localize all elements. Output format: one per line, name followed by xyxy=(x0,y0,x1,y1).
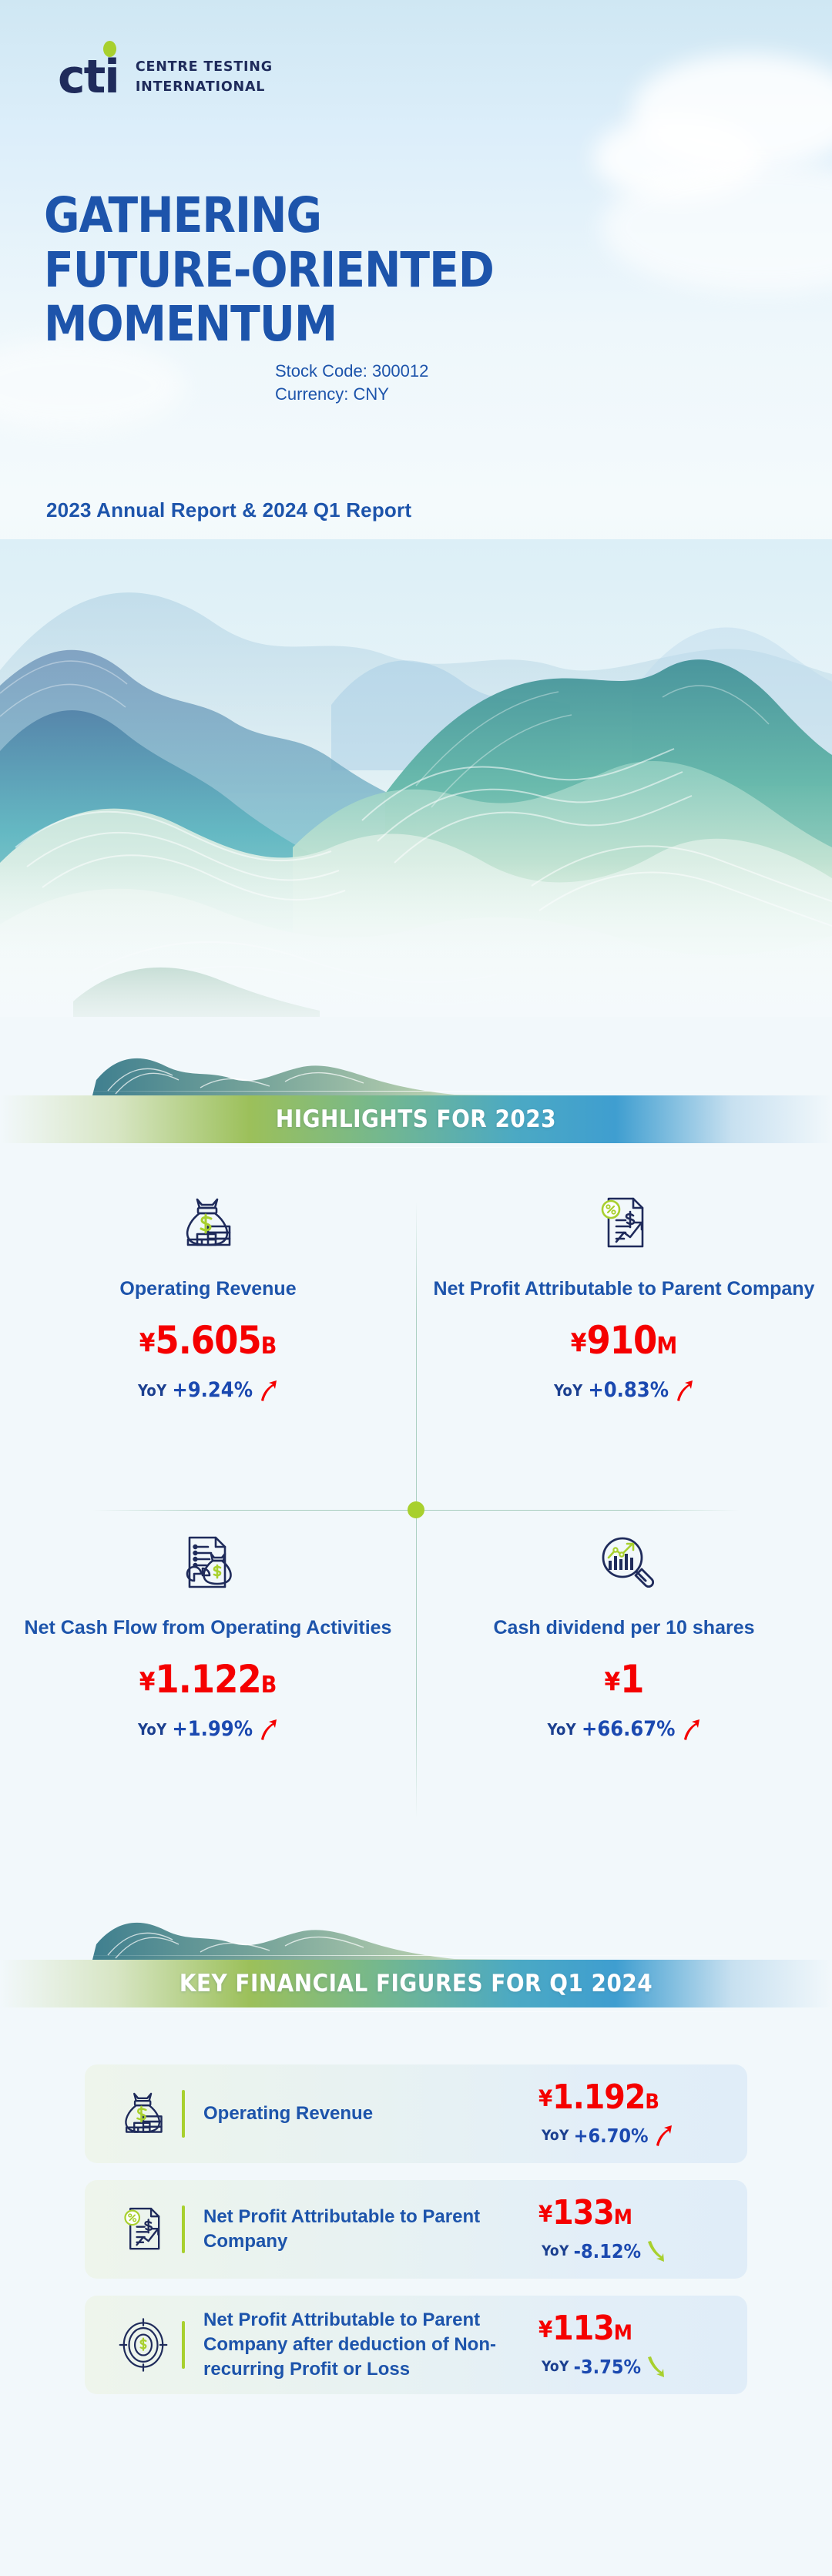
card-value: ¥1.192B xyxy=(538,2081,727,2115)
yoy-label: YoY xyxy=(542,2358,569,2375)
arrow-up-icon xyxy=(681,1718,701,1741)
value-number: 1 xyxy=(620,1657,643,1702)
metric-value: ¥1 xyxy=(431,1660,817,1699)
card-label: Net Profit Attributable to Parent Compan… xyxy=(203,2205,538,2253)
q1-card-net-profit-parent: Net Profit Attributable to Parent Compan… xyxy=(85,2180,747,2279)
cashflow-document-bag-icon xyxy=(15,1525,401,1599)
metric-value: ¥5.605B xyxy=(15,1321,401,1360)
card-accent-separator xyxy=(182,2205,185,2253)
profit-document-chart-icon xyxy=(108,2201,179,2258)
card-figure-block: ¥113M YoY -3.75% xyxy=(538,2312,727,2378)
yoy-change: YoY +66.67% xyxy=(431,1717,817,1741)
value-number: 910 xyxy=(586,1318,656,1363)
currency-symbol: ¥ xyxy=(538,2085,552,2111)
metric-value: ¥1.122B xyxy=(15,1660,401,1699)
value-unit: B xyxy=(645,2090,659,2114)
yoy-value: -3.75% xyxy=(574,2356,641,2378)
banner-line-bottom xyxy=(54,2011,778,2012)
highlights-banner: HIGHLIGHTS FOR 2023 xyxy=(0,1048,832,1143)
value-unit: B xyxy=(261,1672,277,1699)
banner-hill-decoration xyxy=(0,1912,832,1960)
logo-company-name: CENTRE TESTING INTERNATIONAL xyxy=(136,57,273,98)
cti-logo: cti CENTRE TESTING INTERNATIONAL xyxy=(58,54,273,100)
currency-label: Currency: CNY xyxy=(275,383,428,406)
card-value: ¥133M xyxy=(538,2196,727,2230)
currency-symbol: ¥ xyxy=(605,1666,621,1696)
currency-symbol: ¥ xyxy=(139,1327,156,1357)
metric-value: ¥910M xyxy=(431,1321,817,1360)
yoy-change: YoY +9.24% xyxy=(15,1378,401,1402)
yoy-label: YoY xyxy=(542,2242,569,2259)
logo-wordmark: cti xyxy=(58,54,119,100)
hero-headline: GATHERING FUTURE-ORIENTED MOMENTUM Stock… xyxy=(44,189,783,352)
card-label: Net Profit Attributable to Parent Compan… xyxy=(203,2308,538,2381)
q1-card-net-profit-deducted: Net Profit Attributable to Parent Compan… xyxy=(85,2296,747,2394)
yoy-label: YoY xyxy=(138,1720,166,1739)
highlights-banner-title: HIGHLIGHTS FOR 2023 xyxy=(0,1105,832,1133)
arrow-down-icon xyxy=(646,2239,666,2262)
banner-line-bottom xyxy=(54,1147,778,1148)
value-unit: M xyxy=(614,2321,632,2345)
banner-hill-svg xyxy=(92,1912,570,1960)
card-value: ¥113M xyxy=(538,2312,727,2346)
logo-mark: cti xyxy=(58,54,119,100)
banner-hill-decoration xyxy=(0,1048,832,1095)
currency-symbol: ¥ xyxy=(571,1327,587,1357)
arrow-up-icon xyxy=(653,2124,673,2147)
value-number: 113 xyxy=(552,2309,614,2348)
q1-banner: KEY FINANCIAL FIGURES FOR Q1 2024 xyxy=(0,1912,832,2007)
page-title: GATHERING FUTURE-ORIENTED MOMENTUM xyxy=(44,189,783,352)
grid-center-green-dot-icon xyxy=(408,1501,424,1518)
q1-cards-list: Operating Revenue ¥1.192B YoY +6.70% xyxy=(0,2064,832,2411)
card-accent-separator xyxy=(182,2321,185,2369)
arrow-up-icon xyxy=(258,1718,278,1741)
value-unit: M xyxy=(614,2205,632,2229)
banner-line-top xyxy=(54,1091,778,1092)
title-line-3: MOMENTUM xyxy=(44,297,783,352)
yoy-label: YoY xyxy=(542,2127,569,2144)
money-bag-coins-icon xyxy=(108,2085,179,2142)
yoy-change: YoY +6.70% xyxy=(538,2124,727,2147)
logo-company-line1: CENTRE TESTING xyxy=(136,57,273,77)
yoy-value: +0.83% xyxy=(588,1378,669,1402)
currency-symbol: ¥ xyxy=(538,2316,552,2343)
report-subtitle: 2023 Annual Report & 2024 Q1 Report xyxy=(46,498,411,522)
metric-label: Cash dividend per 10 shares xyxy=(431,1616,817,1640)
value-number: 1.192 xyxy=(552,2078,645,2117)
arrow-down-icon xyxy=(646,2355,666,2378)
yoy-label: YoY xyxy=(547,1720,575,1739)
logo-green-dot-icon xyxy=(103,41,116,57)
stock-info: Stock Code: 300012 Currency: CNY xyxy=(275,360,428,405)
banner-hill-svg xyxy=(92,1048,570,1095)
metric-label: Net Profit Attributable to Parent Compan… xyxy=(431,1277,817,1301)
highlights-metric-grid: Operating Revenue ¥5.605B YoY +9.24% xyxy=(0,1179,832,1841)
yoy-value: +66.67% xyxy=(582,1717,676,1741)
q1-banner-bar: KEY FINANCIAL FIGURES FOR Q1 2024 xyxy=(0,1960,832,2007)
yoy-label: YoY xyxy=(554,1381,582,1400)
value-number: 133 xyxy=(552,2193,614,2232)
card-figure-block: ¥1.192B YoY +6.70% xyxy=(538,2081,727,2147)
metric-card-operating-revenue: Operating Revenue ¥5.605B YoY +9.24% xyxy=(15,1186,401,1402)
currency-symbol: ¥ xyxy=(139,1666,156,1696)
yoy-label: YoY xyxy=(138,1381,166,1400)
profit-document-chart-icon xyxy=(431,1186,817,1260)
yoy-value: +6.70% xyxy=(574,2125,649,2147)
cloud-decoration xyxy=(0,339,185,431)
metric-label: Operating Revenue xyxy=(15,1277,401,1301)
yoy-change: YoY -3.75% xyxy=(538,2355,727,2378)
title-line-1: GATHERING xyxy=(44,189,783,243)
arrow-up-icon xyxy=(674,1379,694,1402)
value-number: 1.122 xyxy=(155,1657,260,1702)
yoy-value: -8.12% xyxy=(574,2240,641,2262)
highlights-banner-bar: HIGHLIGHTS FOR 2023 xyxy=(0,1095,832,1143)
arrow-up-icon xyxy=(258,1379,278,1402)
metric-label: Net Cash Flow from Operating Activities xyxy=(15,1616,401,1640)
yoy-value: +9.24% xyxy=(172,1378,253,1402)
yoy-change: YoY +0.83% xyxy=(431,1378,817,1402)
card-label: Operating Revenue xyxy=(203,2101,538,2126)
card-accent-separator xyxy=(182,2090,185,2138)
q1-banner-title: KEY FINANCIAL FIGURES FOR Q1 2024 xyxy=(0,1970,832,1997)
card-figure-block: ¥133M YoY -8.12% xyxy=(538,2196,727,2262)
q1-card-operating-revenue: Operating Revenue ¥1.192B YoY +6.70% xyxy=(85,2064,747,2163)
currency-symbol: ¥ xyxy=(538,2201,552,2227)
value-unit: M xyxy=(656,1333,677,1360)
target-dollar-icon xyxy=(108,2316,179,2373)
magnifier-chart-icon xyxy=(431,1525,817,1599)
metric-card-cash-dividend: Cash dividend per 10 shares ¥1 YoY +66.6… xyxy=(431,1525,817,1741)
value-unit: B xyxy=(261,1333,277,1360)
stock-code: Stock Code: 300012 xyxy=(275,360,428,383)
yoy-value: +1.99% xyxy=(172,1717,253,1741)
metric-card-net-profit-parent: Net Profit Attributable to Parent Compan… xyxy=(431,1186,817,1402)
banner-line-top xyxy=(54,1955,778,1956)
logo-company-line2: INTERNATIONAL xyxy=(136,77,273,97)
value-number: 5.605 xyxy=(155,1318,260,1363)
yoy-change: YoY -8.12% xyxy=(538,2239,727,2262)
title-line-2: FUTURE-ORIENTED xyxy=(44,243,783,298)
money-bag-coins-icon xyxy=(15,1186,401,1260)
hero-section: cti CENTRE TESTING INTERNATIONAL GATHERI… xyxy=(0,0,832,1094)
metric-card-net-cash-flow: Net Cash Flow from Operating Activities … xyxy=(15,1525,401,1741)
yoy-change: YoY +1.99% xyxy=(15,1717,401,1741)
